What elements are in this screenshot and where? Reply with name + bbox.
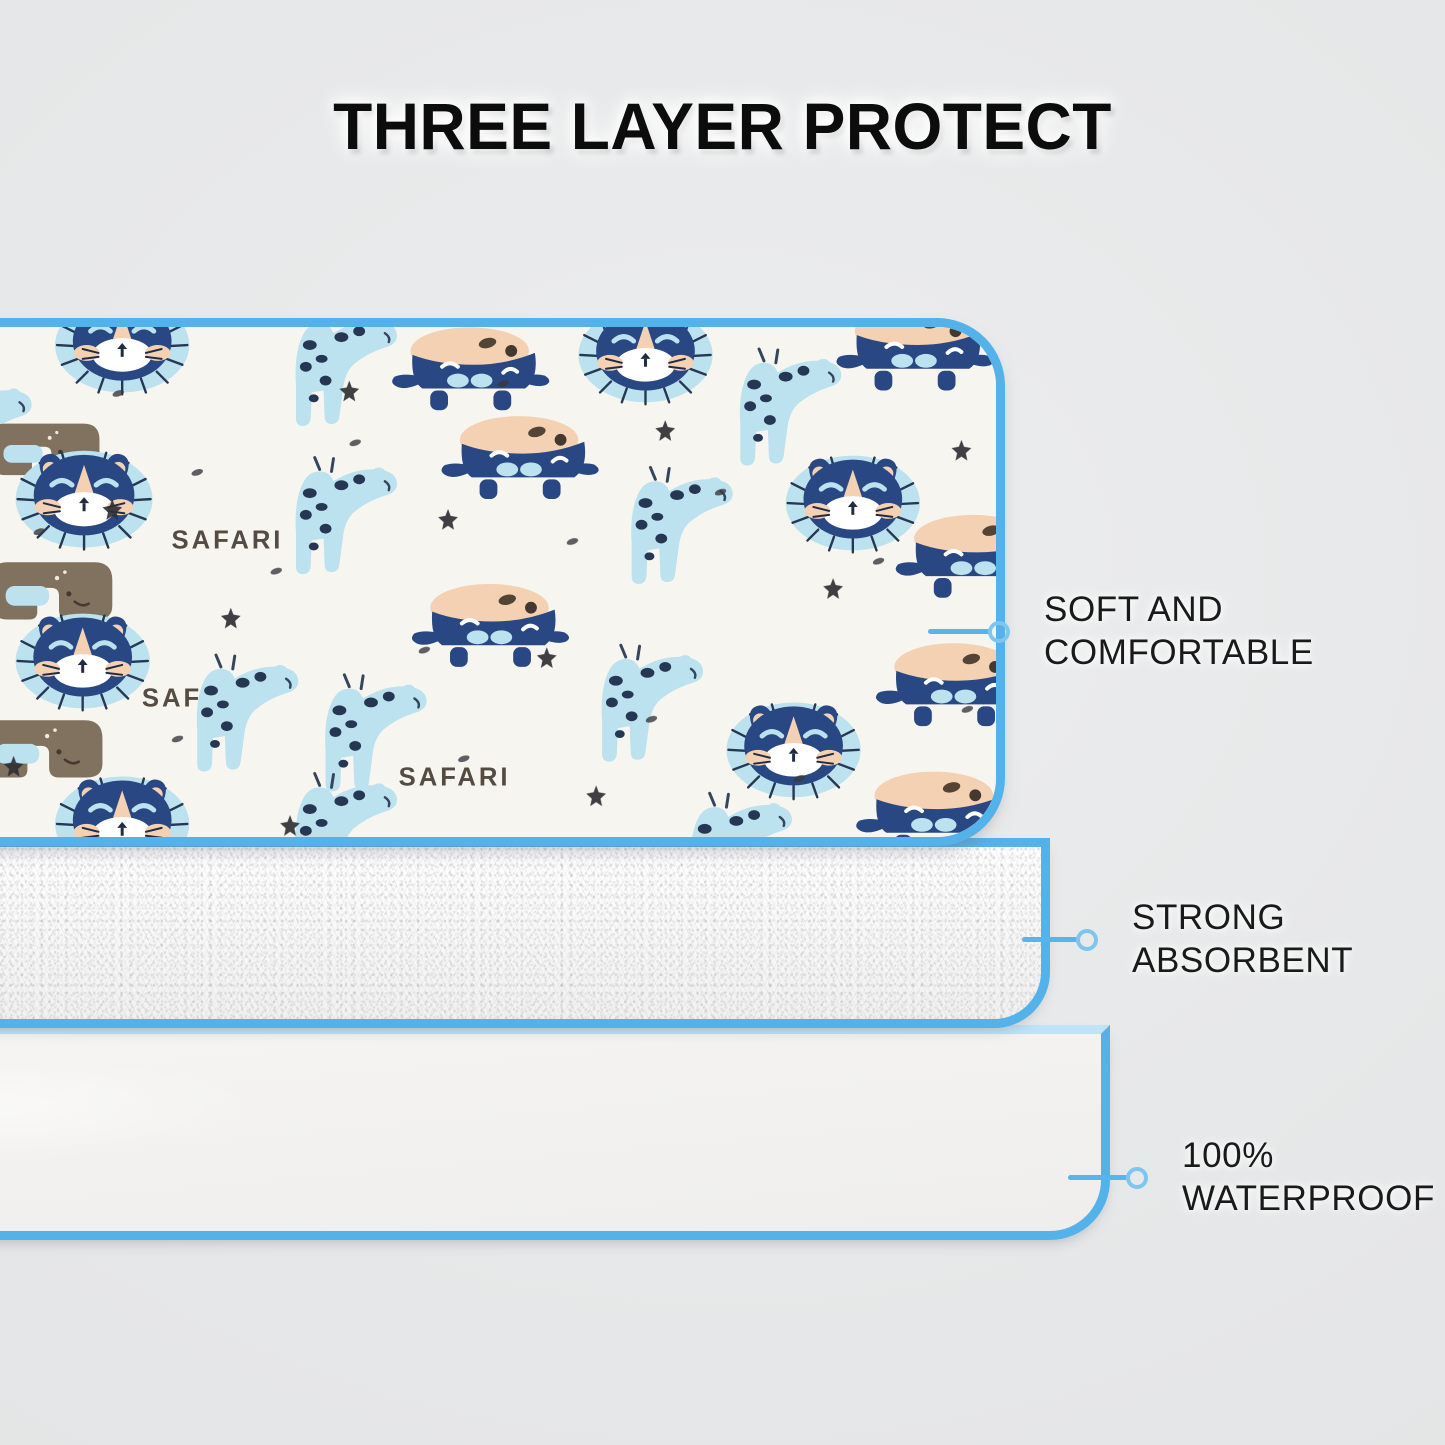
callout-leader-line [1022,937,1078,942]
callout-label-line1: STRONG [1132,897,1353,940]
safari-pattern: SAFARI [0,327,996,837]
callout-label-line1: SOFT AND [1044,589,1314,632]
callout-label-line2: WATERPROOF [1182,1178,1435,1221]
callout-marker-icon [1126,1167,1148,1189]
callout-label-absorbent: STRONG ABSORBENT [1132,897,1353,982]
infographic-canvas: THREE LAYER PROTECT [0,0,1445,1445]
callout-leader-line [928,629,990,634]
layer-waterproof [0,1025,1110,1240]
layer-absorbent [0,838,1050,1028]
callout-leader-line [1068,1175,1128,1180]
layer-stack: SAFARI [0,0,1445,1445]
callout-label-line2: COMFORTABLE [1044,632,1314,675]
callout-label-waterproof: 100% WATERPROOF [1182,1135,1435,1220]
layer-soft-fabric: SAFARI [0,318,1005,846]
callout-label-line1: 100% [1182,1135,1435,1178]
callout-strong-absorbent: STRONG ABSORBENT [1022,897,1353,982]
callout-label-soft: SOFT AND COMFORTABLE [1044,589,1314,674]
callout-label-line2: ABSORBENT [1132,940,1353,983]
callout-marker-icon [1076,929,1098,951]
callout-marker-icon [988,621,1010,643]
callout-soft-and-comfortable: SOFT AND COMFORTABLE [928,589,1314,674]
callout-100-percent-waterproof: 100% WATERPROOF [1068,1135,1435,1220]
